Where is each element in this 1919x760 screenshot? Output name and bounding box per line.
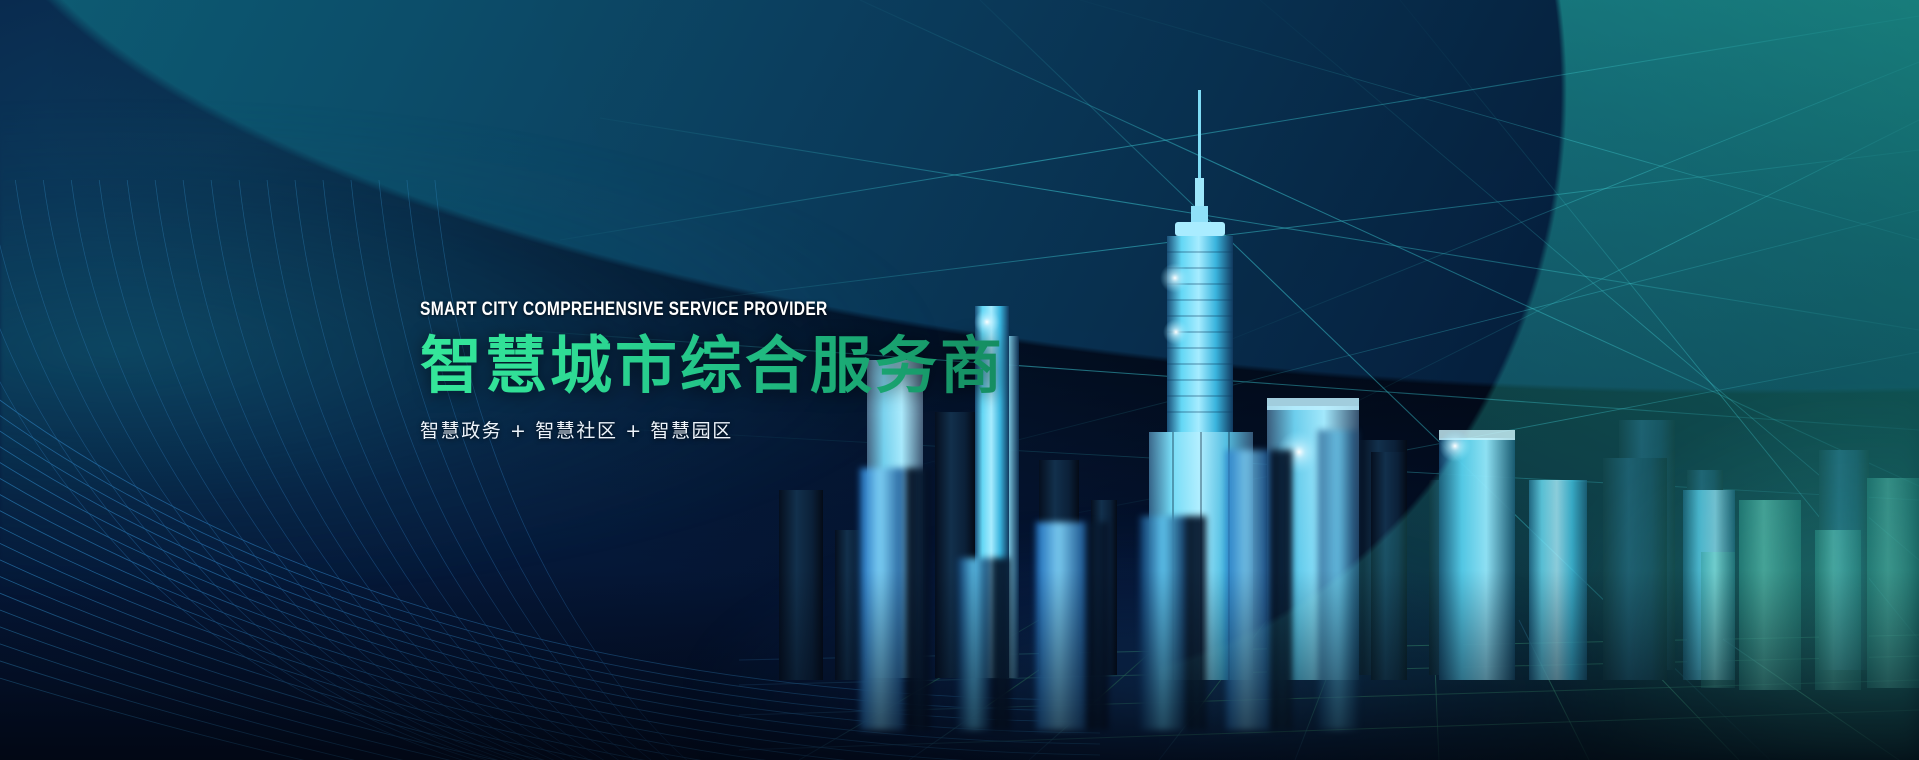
hero-copy-block: SMART CITY COMPREHENSIVE SERVICE PROVIDE…: [420, 300, 1180, 443]
bottom-vignette: [0, 570, 1919, 760]
hero-tagline: 智慧政务 + 智慧社区 + 智慧园区: [420, 416, 1180, 443]
hero-banner: SMART CITY COMPREHENSIVE SERVICE PROVIDE…: [0, 0, 1919, 760]
hero-headline-chinese: 智慧城市综合服务商: [420, 333, 1180, 400]
hero-eyebrow-english: SMART CITY COMPREHENSIVE SERVICE PROVIDE…: [420, 300, 1043, 321]
